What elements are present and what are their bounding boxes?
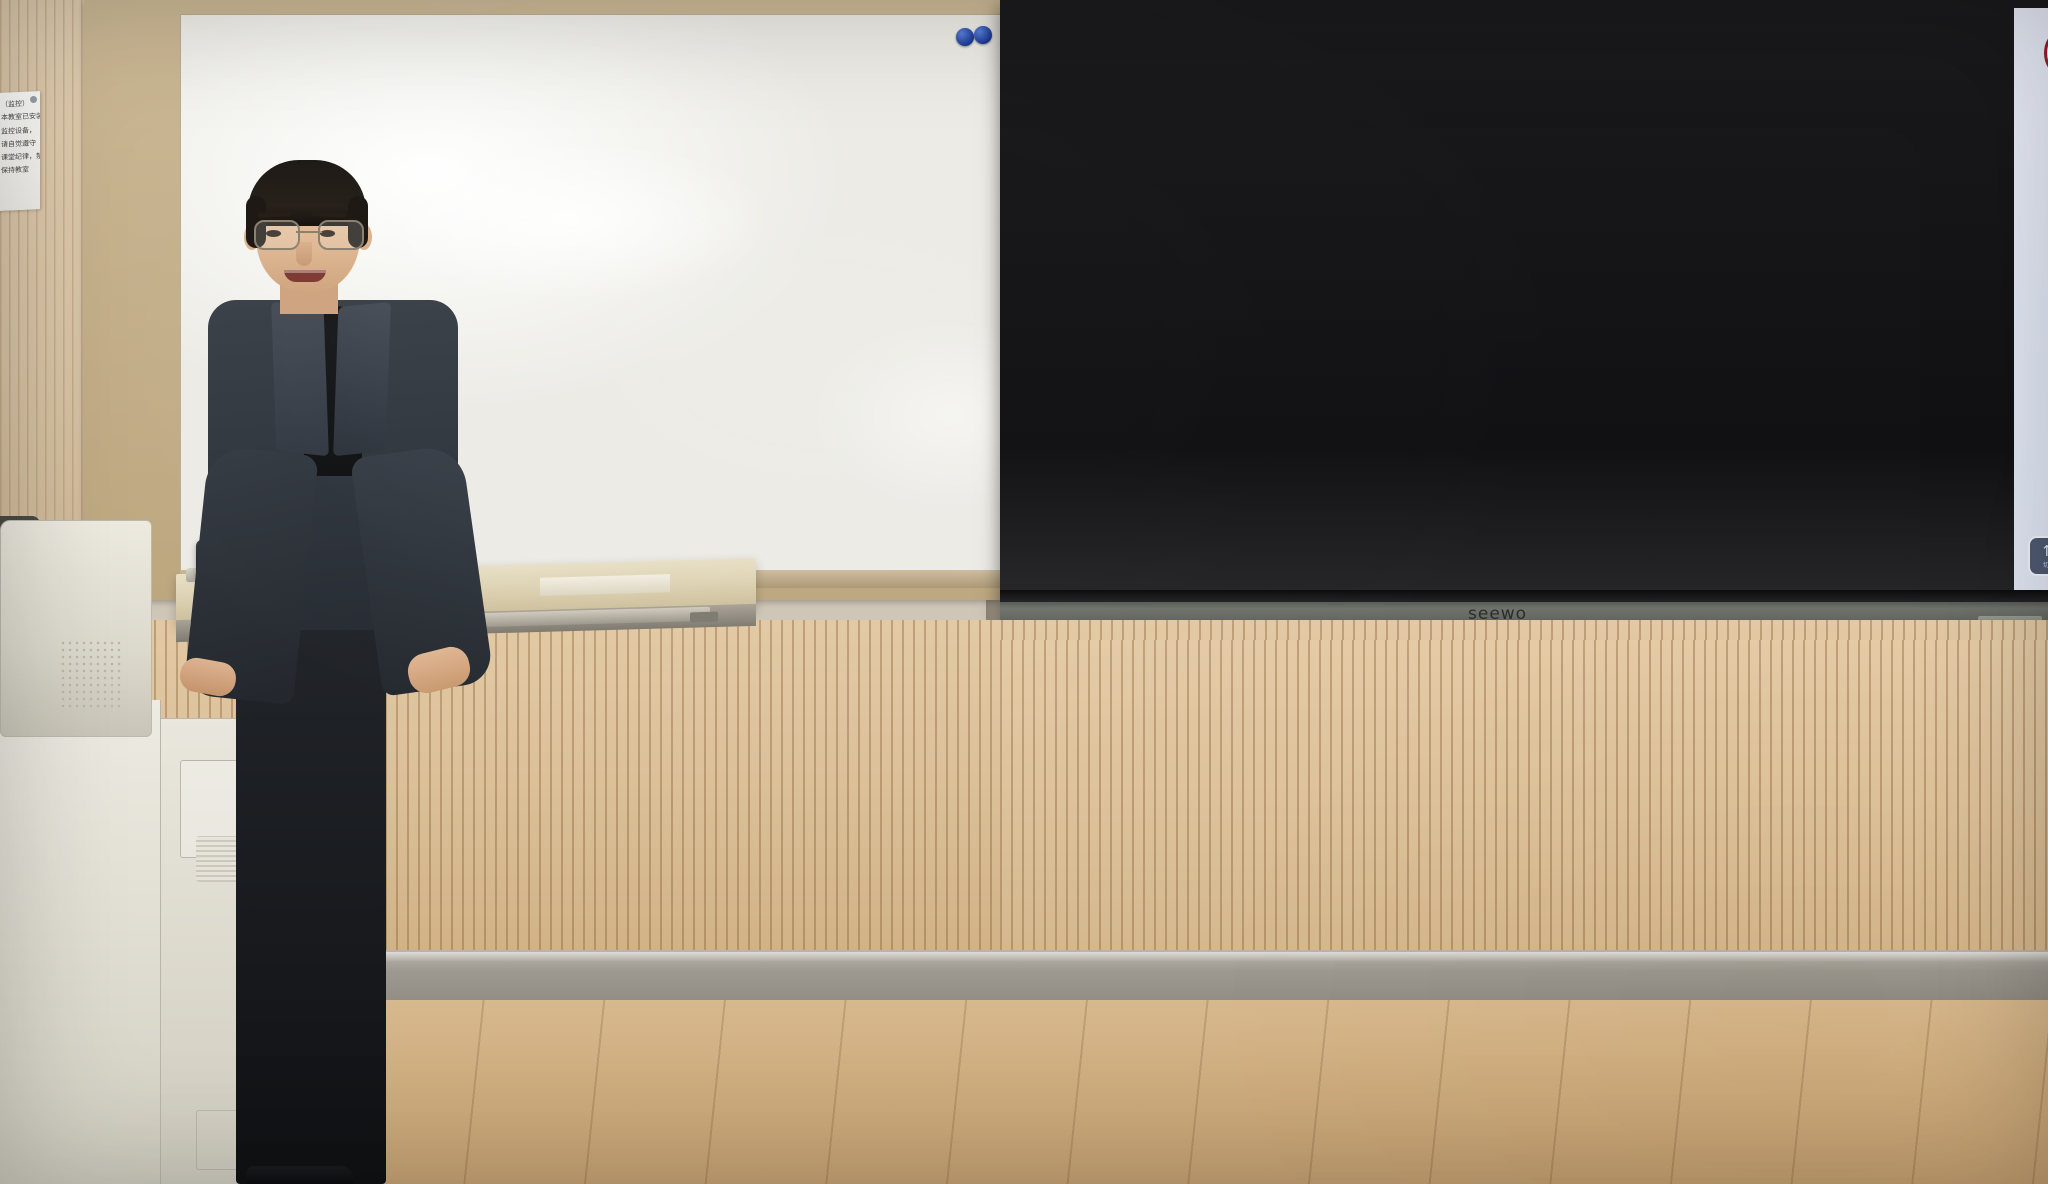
presenter-shoe (246, 1166, 354, 1184)
glasses-lens-left (254, 220, 300, 250)
blazer-lapel-right (333, 302, 391, 457)
notice-line: 本教室已安装 (1, 111, 37, 126)
magnet-icon (974, 26, 992, 44)
slide-title-line-2: 料”创新团队 (2014, 209, 2048, 290)
glasses-lens-right (318, 220, 364, 250)
lectern-knob (690, 612, 718, 623)
slide-title: “软化学催化及储能新兴材 料”创新团队 (2014, 128, 2048, 289)
lectern-body-left (0, 700, 161, 1184)
university-seal-icon: W (2044, 25, 2048, 81)
presenter-nose (296, 242, 312, 266)
university-logo: W 哈尔滨学院 Harbin University (2044, 24, 2048, 83)
blazer-lapel-left (271, 302, 329, 457)
slide-title-line-1: “软化学催化及储能新兴材 (2014, 128, 2048, 209)
presenter (200, 160, 530, 1184)
classroom-photo: （监控） 本教室已安装 监控设备， 请自觉遵守 课堂纪律，禁止 保持教室 W 哈… (0, 0, 2048, 1184)
presenter-mouth (284, 270, 326, 282)
presenter-torso (208, 300, 458, 630)
smart-board: W 哈尔滨学院 Harbin University “软化学催化及储能新兴材 料… (1000, 0, 2048, 640)
magnet-icon (956, 28, 974, 46)
switch-label: 切换 (2043, 560, 2048, 569)
switch-button[interactable]: ⇅ 切换 (2030, 538, 2048, 574)
smart-board-screen[interactable]: W 哈尔滨学院 Harbin University “软化学催化及储能新兴材 料… (2014, 8, 2048, 590)
papers (540, 574, 670, 596)
speaker-grille (60, 640, 124, 712)
notice-line: 课堂纪律，禁止 (1, 150, 37, 165)
notice-pin (30, 96, 37, 103)
notice-line: 保持教室 (1, 164, 37, 179)
wall-notice: （监控） 本教室已安装 监控设备， 请自觉遵守 课堂纪律，禁止 保持教室 (0, 91, 40, 211)
smart-board-chin-shadow (1000, 590, 2048, 602)
slide-presenter: 汇报人：高昆 (2014, 378, 2048, 442)
switch-icon: ⇅ (2043, 544, 2048, 559)
slide-department: 食品工程学院 (2014, 460, 2048, 532)
